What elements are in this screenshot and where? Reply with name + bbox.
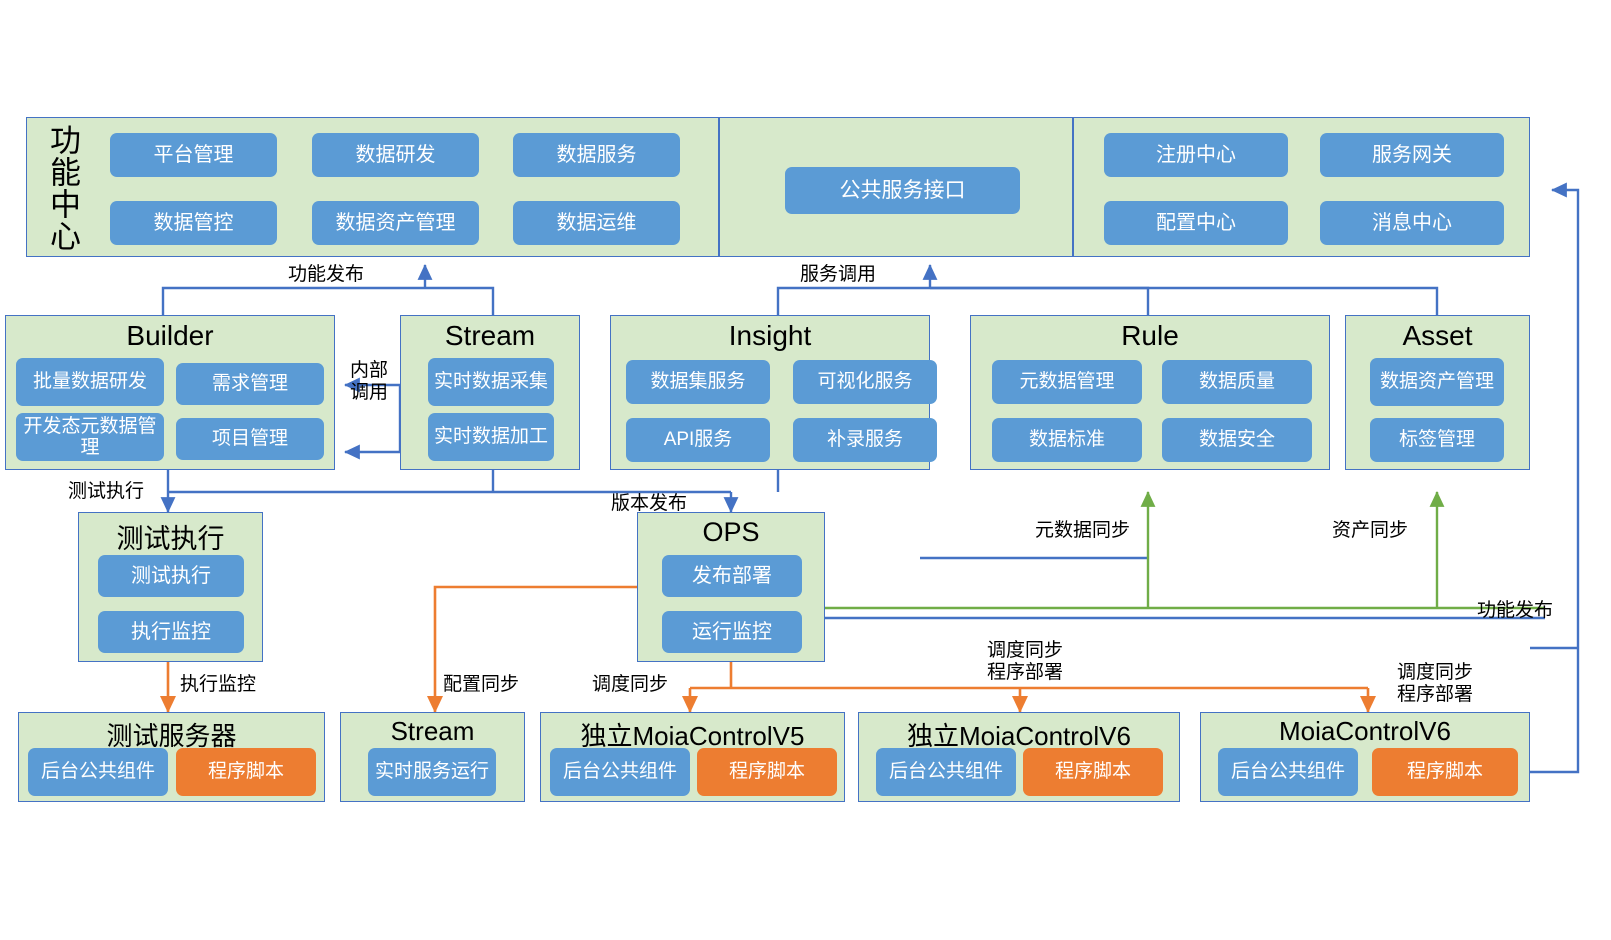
builder-chip-2[interactable]: 开发态元数据管理 xyxy=(16,413,164,461)
server-title-stream: Stream xyxy=(340,716,525,747)
module-title-rule: Rule xyxy=(970,320,1330,352)
architecture-diagram: 功能中心 平台管理 数据研发 数据服务 数据管控 数据资产管理 数据运维 公共服… xyxy=(0,0,1611,940)
fc-divider-1 xyxy=(718,117,720,257)
edge-label-exec-monitor: 执行监控 xyxy=(180,674,256,696)
server-moia-v6s-chip-0[interactable]: 后台公共组件 xyxy=(876,748,1016,796)
fc-chip-3[interactable]: 数据管控 xyxy=(110,201,277,245)
edge-label-metadata-sync: 元数据同步 xyxy=(1035,520,1130,542)
insight-chip-0[interactable]: 数据集服务 xyxy=(626,360,770,404)
ops-chip-0[interactable]: 发布部署 xyxy=(662,555,802,597)
asset-chip-1[interactable]: 标签管理 xyxy=(1370,418,1504,462)
rule-chip-2[interactable]: 数据标准 xyxy=(992,418,1142,462)
module-title-stream: Stream xyxy=(400,320,580,352)
server-test-chip-1[interactable]: 程序脚本 xyxy=(176,748,316,796)
server-moia-v6-chip-1[interactable]: 程序脚本 xyxy=(1372,748,1518,796)
insight-chip-2[interactable]: API服务 xyxy=(626,418,770,462)
module-title-ops: OPS xyxy=(637,517,825,548)
edge-label-version-publish: 版本发布 xyxy=(611,493,687,515)
stream-chip-1[interactable]: 实时数据加工 xyxy=(428,413,554,461)
fc-chip-0[interactable]: 平台管理 xyxy=(110,133,277,177)
edge-label-schedule-sync-deploy-1: 调度同步 程序部署 xyxy=(965,640,1085,685)
insight-chip-3[interactable]: 补录服务 xyxy=(793,418,937,462)
function-center-label-text: 功能中心 xyxy=(47,124,77,252)
module-title-test-exec: 测试执行 xyxy=(78,517,263,556)
edge-label-asset-sync: 资产同步 xyxy=(1332,520,1408,542)
edge-label-config-sync: 配置同步 xyxy=(443,674,519,696)
rule-chip-0[interactable]: 元数据管理 xyxy=(992,360,1142,404)
edge-label-schedule-sync-deploy-2: 调度同步 程序部署 xyxy=(1375,662,1495,707)
server-moia-v6-chip-0[interactable]: 后台公共组件 xyxy=(1218,748,1358,796)
asset-chip-0[interactable]: 数据资产管理 xyxy=(1370,358,1504,406)
fc-chip-register-center[interactable]: 注册中心 xyxy=(1104,133,1288,177)
fc-chip-config-center[interactable]: 配置中心 xyxy=(1104,201,1288,245)
fc-chip-1[interactable]: 数据研发 xyxy=(312,133,479,177)
edge-label-feature-publish-right: 功能发布 xyxy=(1477,600,1553,622)
server-moia-v5-chip-1[interactable]: 程序脚本 xyxy=(697,748,837,796)
fc-chip-message-center[interactable]: 消息中心 xyxy=(1320,201,1504,245)
fc-chip-service-gateway[interactable]: 服务网关 xyxy=(1320,133,1504,177)
edge-label-test-exec: 测试执行 xyxy=(68,481,144,503)
fc-divider-2 xyxy=(1072,117,1074,257)
builder-chip-3[interactable]: 项目管理 xyxy=(176,418,324,460)
test-exec-chip-0[interactable]: 测试执行 xyxy=(98,555,244,597)
edge-label-internal-call: 内部 调用 xyxy=(340,360,398,405)
builder-chip-1[interactable]: 需求管理 xyxy=(176,363,324,405)
fc-public-service-interface[interactable]: 公共服务接口 xyxy=(785,167,1020,214)
rule-chip-1[interactable]: 数据质量 xyxy=(1162,360,1312,404)
module-title-insight: Insight xyxy=(610,320,930,352)
fc-chip-5[interactable]: 数据运维 xyxy=(513,201,680,245)
server-stream-chip-0[interactable]: 实时服务运行 xyxy=(368,748,496,796)
ops-chip-1[interactable]: 运行监控 xyxy=(662,611,802,653)
fc-chip-2[interactable]: 数据服务 xyxy=(513,133,680,177)
edge-label-service-call: 服务调用 xyxy=(800,264,876,286)
server-title-moia-v6: MoiaControlV6 xyxy=(1200,716,1530,747)
edge-label-feature-publish-top: 功能发布 xyxy=(288,264,364,286)
fc-chip-4[interactable]: 数据资产管理 xyxy=(312,201,479,245)
function-center-label: 功能中心 xyxy=(36,122,88,254)
module-title-asset: Asset xyxy=(1345,320,1530,352)
insight-chip-1[interactable]: 可视化服务 xyxy=(793,360,937,404)
server-moia-v5-chip-0[interactable]: 后台公共组件 xyxy=(550,748,690,796)
stream-chip-0[interactable]: 实时数据采集 xyxy=(428,358,554,406)
rule-chip-3[interactable]: 数据安全 xyxy=(1162,418,1312,462)
server-test-chip-0[interactable]: 后台公共组件 xyxy=(28,748,168,796)
server-moia-v6s-chip-1[interactable]: 程序脚本 xyxy=(1023,748,1163,796)
edge-label-schedule-sync-1: 调度同步 xyxy=(592,674,668,696)
module-title-builder: Builder xyxy=(5,320,335,352)
builder-chip-0[interactable]: 批量数据研发 xyxy=(16,358,164,406)
test-exec-chip-1[interactable]: 执行监控 xyxy=(98,611,244,653)
